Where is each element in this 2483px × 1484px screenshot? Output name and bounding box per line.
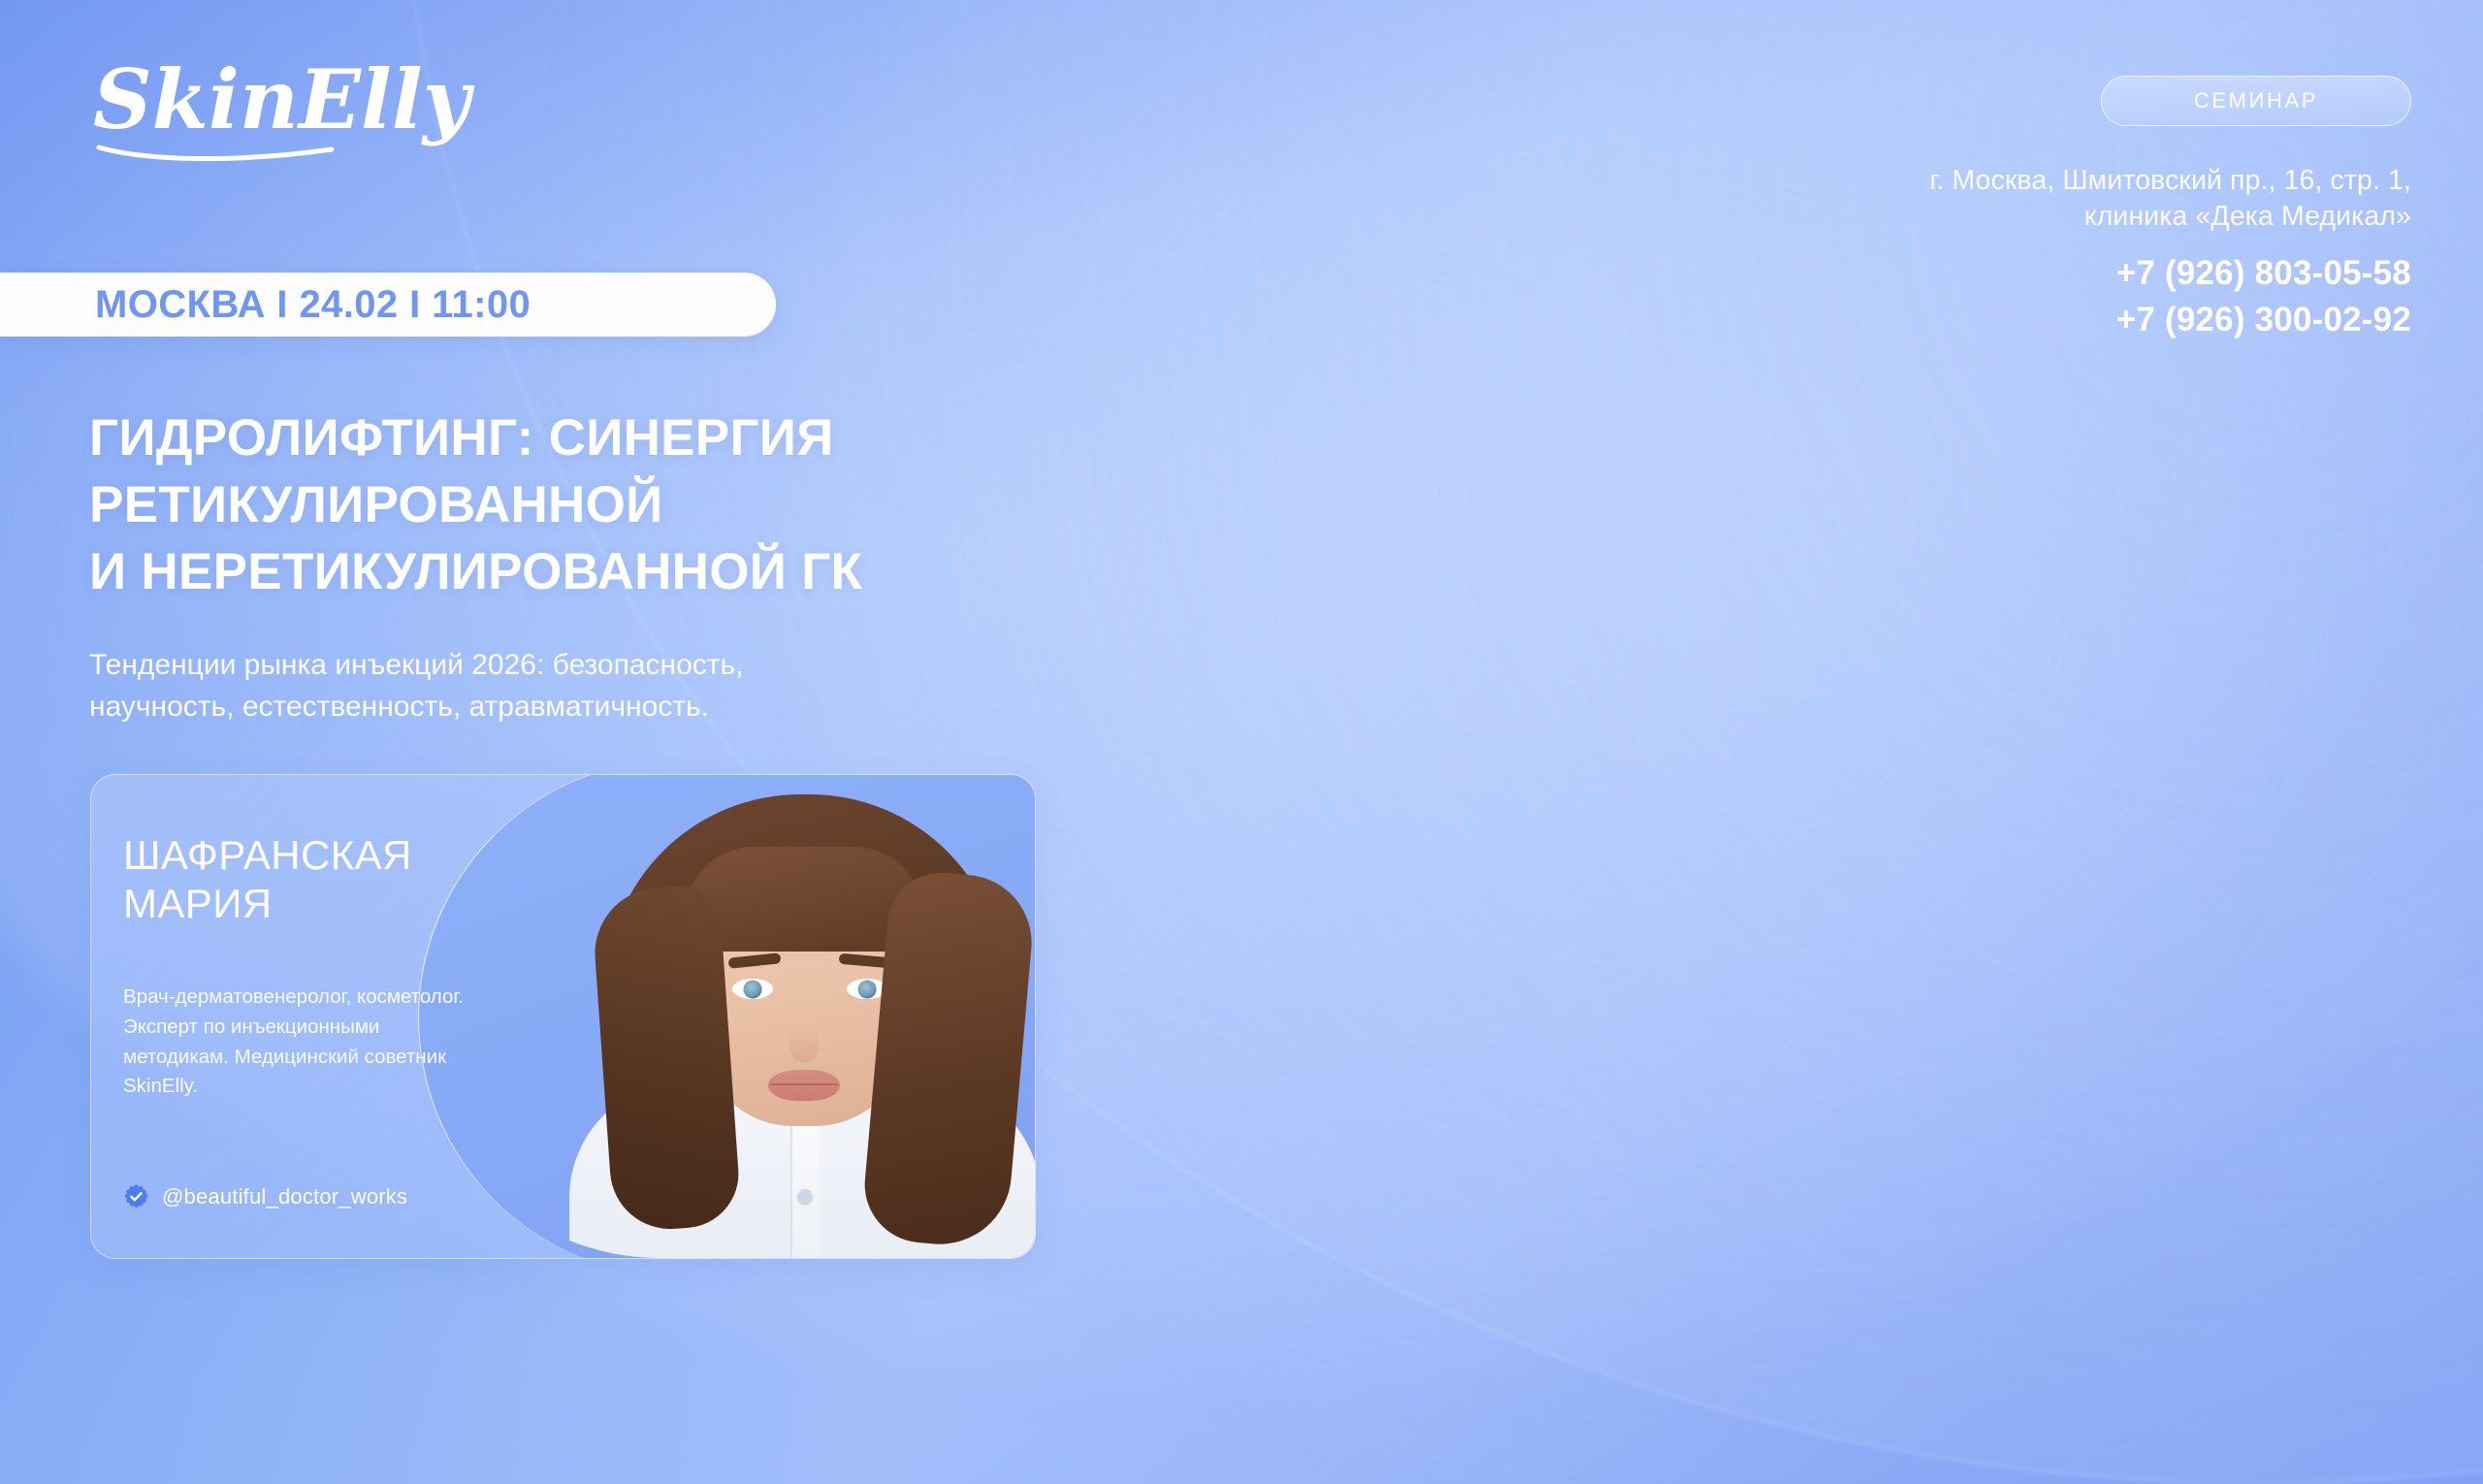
- portrait-nose: [790, 1027, 819, 1062]
- brand-logo-text: SkinElly: [93, 51, 475, 147]
- speaker-social-handle[interactable]: @beautiful_doctor_works: [123, 1183, 407, 1210]
- speaker-card: ШАФРАНСКАЯ МАРИЯ Врач-дерматовенеролог, …: [90, 774, 1036, 1259]
- phone-link-1[interactable]: +7 (926) 803-05-58: [2116, 251, 2411, 296]
- speaker-bio: Врач-дерматовенеролог, косметолог. Экспе…: [123, 983, 628, 1102]
- speaker-portrait-image: [562, 775, 1036, 1258]
- venue-address: г. Москва, Шмитовский пр., 16, стр. 1, к…: [1929, 163, 2411, 235]
- seminar-badge[interactable]: СЕМИНАР: [2101, 76, 2411, 126]
- page-title: ГИДРОЛИФТИНГ: СИНЕРГИЯ РЕТИКУЛИРОВАННОЙ …: [89, 405, 1234, 606]
- brand-logo[interactable]: SkinElly: [89, 39, 438, 165]
- phone-list: +7 (926) 803-05-58 +7 (926) 300-02-92: [2116, 251, 2411, 341]
- brand-underline-flourish: [99, 147, 332, 159]
- event-date-banner-text: МОСКВА I 24.02 I 11:00: [95, 283, 531, 327]
- portrait-lips: [768, 1070, 840, 1101]
- portrait-iris-left: [744, 980, 762, 998]
- speaker-info: ШАФРАНСКАЯ МАРИЯ Врач-дерматовенеролог, …: [123, 775, 628, 1258]
- event-date-banner: МОСКВА I 24.02 I 11:00: [0, 273, 776, 337]
- portrait-eye-left: [732, 979, 773, 999]
- portrait-iris-right: [858, 980, 877, 998]
- phone-link-2[interactable]: +7 (926) 300-02-92: [2116, 298, 2411, 342]
- speaker-name: ШАФРАНСКАЯ МАРИЯ: [123, 831, 628, 927]
- landing-page: SkinElly СЕМИНАР г. Москва, Шмитовский п…: [0, 0, 2483, 1484]
- portrait-coat-button: [798, 1189, 813, 1204]
- header-contact-block: СЕМИНАР г. Москва, Шмитовский пр., 16, с…: [1790, 76, 2411, 341]
- verified-check-icon: [123, 1183, 149, 1210]
- portrait-bottom-fade: [562, 1233, 1036, 1258]
- portrait-lip-line: [770, 1083, 838, 1085]
- speaker-handle-text: @beautiful_doctor_works: [162, 1184, 407, 1210]
- page-subtitle: Тенденции рынка инъекций 2026: безопасно…: [89, 645, 1069, 727]
